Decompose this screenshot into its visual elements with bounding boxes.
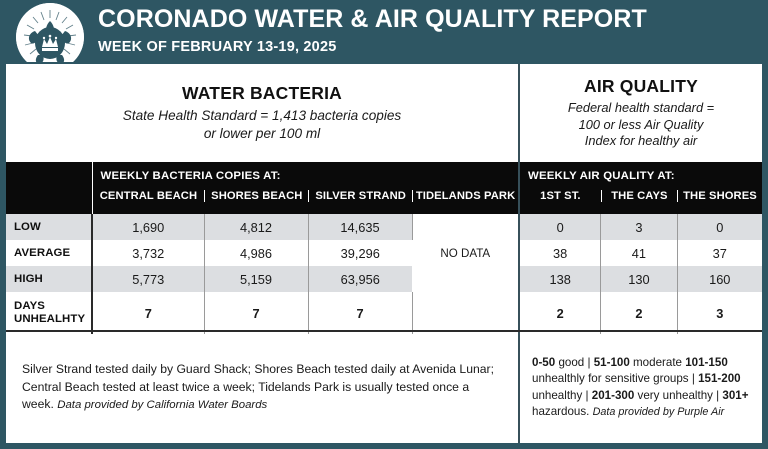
table-row: DAYSUNHEALHTY 7 7 7: [6, 292, 518, 334]
water-col-shores-beach: SHORES BEACH: [204, 190, 308, 202]
water-high-silver: 63,956: [308, 266, 412, 292]
data-tables: WEEKLY BACTERIA COPIES AT: CENTRAL BEACH…: [6, 162, 762, 330]
water-section-title: WATER BACTERIA: [182, 83, 342, 104]
water-high-shores: 5,159: [204, 266, 308, 292]
water-days-silver: 7: [308, 292, 412, 334]
report-week-subtitle: WEEK OF FEBRUARY 13-19, 2025: [98, 40, 647, 55]
water-standard-text: State Health Standard = 1,413 bacteria c…: [123, 107, 401, 143]
air-low-1st-st: 0: [520, 214, 601, 240]
air-table-header-row: WEEKLY AIR QUALITY AT: 1ST ST. THE CAYS …: [520, 162, 762, 214]
turtle-crown-seal-icon: [16, 3, 84, 71]
aqi-label-moderate: moderate: [630, 356, 685, 369]
air-days-the-shores: 3: [677, 292, 762, 334]
aqi-label-unhealthy: unhealthy |: [532, 389, 592, 402]
air-average-the-cays: 41: [601, 240, 677, 266]
water-standard-line-1: State Health Standard = 1,413 bacteria c…: [123, 107, 401, 125]
air-group-header: WEEKLY AIR QUALITY AT:: [520, 162, 762, 182]
aqi-range-301-plus: 301+: [722, 389, 748, 402]
water-col-silver-strand: SILVER STRAND: [308, 190, 412, 202]
report-body: WATER BACTERIA State Health Standard = 1…: [4, 62, 764, 445]
water-group-header: WEEKLY BACTERIA COPIES AT:: [93, 162, 519, 182]
aqi-range-0-50: 0-50: [532, 356, 555, 369]
report-header: CORONADO WATER & AIR QUALITY REPORT WEEK…: [0, 0, 768, 62]
water-high-central: 5,773: [92, 266, 204, 292]
water-low-shores: 4,812: [204, 214, 308, 240]
water-standard-block: WATER BACTERIA State Health Standard = 1…: [6, 64, 520, 162]
air-high-the-cays: 130: [601, 266, 677, 292]
air-low-the-shores: 0: [677, 214, 762, 240]
aqi-label-unhealthy-sensitive: unhealthly for sensitive groups |: [532, 372, 698, 385]
water-days-central: 7: [92, 292, 204, 334]
water-average-shores: 4,986: [204, 240, 308, 266]
water-header-corner: [6, 162, 92, 214]
air-scale-legend: 0-50 good | 51-100 moderate 101-150 unhe…: [520, 332, 762, 443]
air-high-1st-st: 138: [520, 266, 601, 292]
air-average-the-shores: 37: [677, 240, 762, 266]
aqi-range-101-150: 101-150: [685, 356, 728, 369]
air-average-1st-st: 38: [520, 240, 601, 266]
water-footnote-block: Silver Strand tested daily by Guard Shac…: [6, 332, 520, 443]
footnotes-band: Silver Strand tested daily by Guard Shac…: [6, 330, 762, 443]
water-days-tidelands: [412, 292, 518, 334]
water-row-label-high: HIGH: [6, 266, 92, 292]
table-row: 38 41 37: [520, 240, 762, 266]
air-standard-block: AIR QUALITY Federal health standard = 10…: [520, 64, 762, 162]
aqi-range-51-100: 51-100: [594, 356, 630, 369]
table-row: 2 2 3: [520, 292, 762, 334]
water-average-central: 3,732: [92, 240, 204, 266]
aqi-range-201-300: 201-300: [592, 389, 635, 402]
aqi-range-151-200: 151-200: [698, 372, 741, 385]
air-days-1st-st: 2: [520, 292, 601, 334]
air-section-title: AIR QUALITY: [584, 76, 698, 97]
water-footnote-source: Data provided by California Water Boards: [57, 399, 267, 411]
water-tidelands-no-data: NO DATA: [412, 214, 518, 292]
table-row: 0 3 0: [520, 214, 762, 240]
water-row-label-average: AVERAGE: [6, 240, 92, 266]
water-table-header-row: WEEKLY BACTERIA COPIES AT: CENTRAL BEACH…: [6, 162, 518, 214]
water-air-quality-report: CORONADO WATER & AIR QUALITY REPORT WEEK…: [0, 0, 768, 449]
standards-band: WATER BACTERIA State Health Standard = 1…: [6, 64, 762, 162]
water-standard-line-2: or lower per 100 ml: [123, 125, 401, 143]
air-col-the-cays: THE CAYS: [601, 190, 677, 202]
air-col-the-shores: THE SHORES: [677, 190, 762, 202]
report-title: CORONADO WATER & AIR QUALITY REPORT: [98, 7, 647, 32]
water-col-tidelands-park: TIDELANDS PARK: [412, 190, 518, 202]
air-low-the-cays: 3: [601, 214, 677, 240]
water-row-label-low: LOW: [6, 214, 92, 240]
water-low-silver: 14,635: [308, 214, 412, 240]
air-standard-line-2: 100 or less Air Quality: [568, 117, 714, 134]
air-days-the-cays: 2: [601, 292, 677, 334]
air-standard-line-3: Index for healthy air: [568, 133, 714, 150]
air-header-groups: WEEKLY AIR QUALITY AT: 1ST ST. THE CAYS …: [520, 162, 762, 214]
air-standard-line-1: Federal health standard =: [568, 100, 714, 117]
water-average-silver: 39,296: [308, 240, 412, 266]
water-bacteria-table: WEEKLY BACTERIA COPIES AT: CENTRAL BEACH…: [6, 162, 520, 330]
air-standard-text: Federal health standard = 100 or less Ai…: [568, 100, 714, 150]
aqi-label-very-unhealthy: very unhealthy |: [634, 389, 722, 402]
air-high-the-shores: 160: [677, 266, 762, 292]
header-text-block: CORONADO WATER & AIR QUALITY REPORT WEEK…: [98, 7, 647, 55]
table-row: LOW 1,690 4,812 14,635 NO DATA: [6, 214, 518, 240]
water-low-central: 1,690: [92, 214, 204, 240]
water-header-groups: WEEKLY BACTERIA COPIES AT: CENTRAL BEACH…: [92, 162, 518, 214]
table-row: 138 130 160: [520, 266, 762, 292]
water-days-shores: 7: [204, 292, 308, 334]
air-footnote-source: Data provided by Purple Air: [593, 406, 725, 418]
aqi-label-good: good |: [555, 356, 593, 369]
air-col-1st-st: 1ST ST.: [520, 190, 601, 202]
water-row-label-days-unhealthy: DAYSUNHEALHTY: [6, 292, 92, 334]
water-col-central-beach: CENTRAL BEACH: [93, 190, 205, 202]
air-quality-table: WEEKLY AIR QUALITY AT: 1ST ST. THE CAYS …: [520, 162, 762, 330]
aqi-label-hazardous: hazardous.: [532, 405, 593, 418]
